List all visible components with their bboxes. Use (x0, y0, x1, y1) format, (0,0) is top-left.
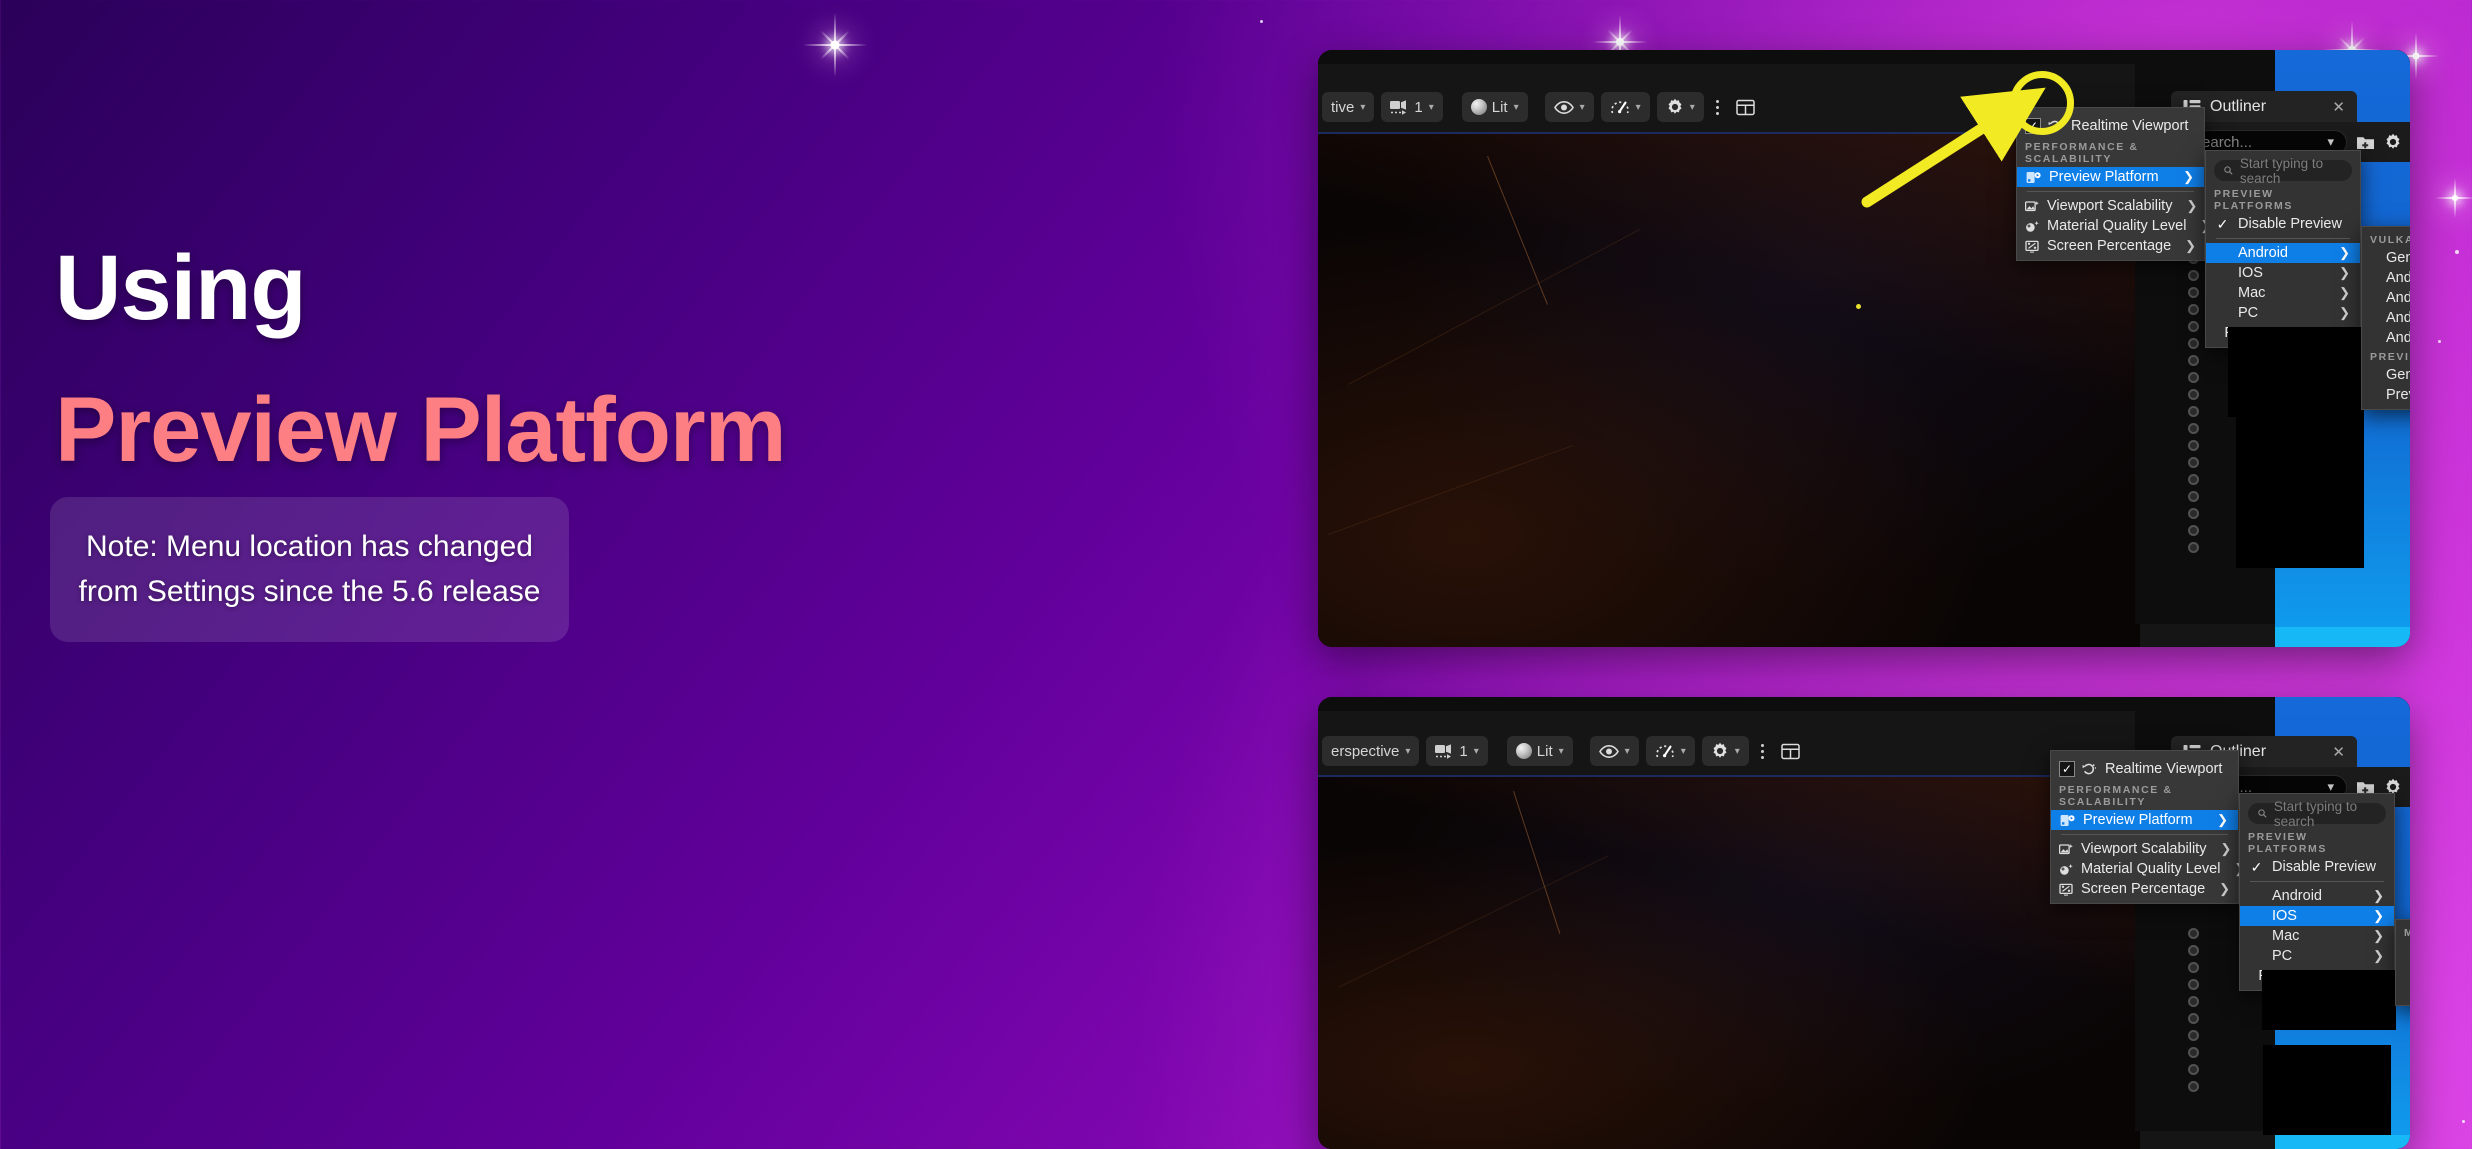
menu-item-iphone-6s[interactable]: iPhone 6S (2396, 961, 2410, 981)
menu-section-label: PREVIEW PLATFORMS (2214, 188, 2341, 212)
outliner-settings-gear-icon[interactable] (2384, 133, 2402, 151)
menu-item-pc[interactable]: PC ❯ (2240, 946, 2394, 966)
menu-item-label: Generate Platform Json... (2386, 367, 2410, 383)
list-item[interactable] (2184, 454, 2244, 471)
performance-context-menu: ✓ Realtime Viewport PERFORMANCE & SCALAB… (2016, 107, 2205, 261)
settings-dropdown[interactable]: ▾ (1702, 736, 1749, 766)
menu-section-vulkan: VULKAN (2362, 231, 2410, 248)
sparkle-star (2432, 175, 2472, 221)
menu-item-android-vulkan-mid[interactable]: Android Vulkan Mid (2362, 288, 2410, 308)
menu-item-generate-platform-json[interactable]: Generate Platform Json... (2362, 365, 2410, 385)
camera-count-label: 1 (1459, 743, 1467, 760)
menu-item-label: Screen Percentage (2081, 881, 2205, 897)
list-item[interactable] (2184, 488, 2244, 505)
list-item[interactable] (2184, 471, 2244, 488)
checkmark-icon: ✓ (2214, 216, 2231, 233)
layout-button[interactable] (1776, 736, 1805, 766)
menu-divider (2061, 834, 2228, 835)
list-item[interactable] (2184, 942, 2244, 959)
chevron-down-icon: ▾ (1514, 102, 1519, 113)
chevron-down-icon: ▾ (1429, 102, 1434, 113)
menu-item-android-vulkan-high[interactable]: Android Vulkan High (2362, 308, 2410, 328)
menu-item-ipad-pro-6[interactable]: iPad Pro 6 12.9in (2396, 981, 2410, 1001)
chevron-right-icon: ❯ (2219, 881, 2230, 897)
platform-search-input[interactable]: Start typing to search (2214, 160, 2352, 181)
menu-item-label: Material Quality Level (2047, 218, 2186, 234)
list-item[interactable] (2184, 976, 2244, 993)
menu-item-label: Realtime Viewport (2071, 118, 2194, 134)
grid-layout-icon (1736, 98, 1755, 117)
menu-item-label: Preview Platform (2083, 812, 2203, 828)
chevron-down-icon: ▾ (1474, 746, 1479, 757)
list-item[interactable] (2184, 522, 2244, 539)
headline-line-1: Using (55, 242, 786, 334)
menu-item-material-quality-level[interactable]: Material Quality Level ❯ (2017, 216, 2204, 236)
menu-divider (2027, 191, 2194, 192)
preview-platform-submenu: Start typing to search PREVIEW PLATFORMS… (2205, 150, 2361, 348)
screen-percentage-icon (2025, 240, 2040, 253)
outliner-empty-area (2263, 1045, 2391, 1135)
menu-item-label: Preview Platform (2049, 169, 2169, 185)
menu-item-label: IOS (2238, 265, 2325, 281)
menu-item-mac[interactable]: Mac ❯ (2206, 283, 2360, 303)
chevron-down-icon: ▾ (1681, 746, 1686, 757)
menu-item-realtime-viewport[interactable]: ✓ Realtime Viewport (2051, 757, 2238, 781)
gear-icon (1666, 98, 1684, 116)
scene-light-dot (1856, 304, 1861, 309)
scene-edge (1338, 855, 1608, 987)
menu-section-label: PREVIEW WITH JSON (2370, 351, 2410, 363)
eye-icon (1599, 745, 1619, 758)
more-options-button[interactable] (1711, 92, 1724, 122)
window-titlebar (1318, 50, 2410, 64)
menu-section-preview-platforms: PREVIEW PLATFORMS (2206, 185, 2360, 214)
scene-edge (1348, 229, 1640, 385)
outliner-tab-label: Outliner (2210, 98, 2266, 116)
menu-item-label: Mac (2272, 928, 2359, 944)
list-item[interactable] (2184, 959, 2244, 976)
checkmark-icon: ✓ (2248, 859, 2265, 876)
chevron-down-icon: ▾ (1690, 102, 1695, 113)
menu-item-label: Material Quality Level (2081, 861, 2220, 877)
menu-item-label: Android Vulkan Low (2386, 270, 2410, 286)
eye-icon (1554, 101, 1574, 114)
page-title: Using Preview Platform (55, 242, 786, 476)
chevron-down-icon: ▾ (1625, 746, 1630, 757)
menu-section-preview-with-json: PREVIEW WITH JSON (2362, 348, 2410, 365)
menu-item-preview-vulkan[interactable]: Preview Vulkan ❯ (2362, 385, 2410, 405)
chevron-down-icon[interactable]: ▾ (2327, 134, 2334, 150)
submenu-shadow-area (2228, 327, 2362, 417)
menu-item-screen-percentage[interactable]: Screen Percentage ❯ (2051, 879, 2238, 899)
menu-item-ios[interactable]: IOS ❯ (2240, 906, 2394, 926)
menu-item-label: Disable Preview (2272, 859, 2384, 875)
chevron-down-icon: ▾ (1580, 102, 1585, 113)
search-icon (2224, 165, 2233, 176)
chevron-down-icon: ▾ (1360, 102, 1365, 113)
menu-item-label: Android Vulkan High (2386, 310, 2410, 326)
close-icon[interactable]: ✕ (2298, 743, 2345, 761)
viewport-scalability-icon (2025, 200, 2040, 213)
chevron-right-icon: ❯ (2339, 265, 2350, 281)
menu-item-label: Android (2238, 245, 2325, 261)
list-item[interactable] (2184, 437, 2244, 454)
menu-item-android-vulkan-low[interactable]: Android Vulkan Low (2362, 268, 2410, 288)
menu-item-label: Generic Android Vulkan (2386, 250, 2410, 266)
menu-item-label: Viewport Scalability (2081, 841, 2206, 857)
list-item[interactable] (2184, 420, 2244, 437)
menu-item-disable-preview[interactable]: ✓ Disable Preview (2240, 857, 2394, 877)
list-item[interactable] (2184, 993, 2244, 1010)
sparkle-dot (2455, 250, 2459, 254)
view-mode-dropdown[interactable]: tive ▾ (1322, 92, 1374, 122)
lit-mode-dropdown[interactable]: Lit ▾ (1507, 736, 1573, 766)
lit-mode-dropdown[interactable]: Lit ▾ (1462, 92, 1528, 122)
chevron-right-icon: ❯ (2185, 238, 2196, 254)
material-quality-icon (2025, 220, 2040, 233)
grid-layout-icon (1781, 742, 1800, 761)
menu-section-label: PERFORMANCE & SCALABILITY (2025, 141, 2185, 165)
scene-edge (1513, 791, 1560, 934)
show-flags-dropdown[interactable]: ▾ (1545, 92, 1594, 122)
sphere-icon (1516, 743, 1532, 759)
menu-item-label: Android (2272, 888, 2359, 904)
performance-speedometer-icon (1655, 743, 1675, 760)
menu-item-mac[interactable]: Mac ❯ (2240, 926, 2394, 946)
menu-item-preview-platform[interactable]: Preview Platform ❯ (2051, 810, 2238, 830)
show-flags-dropdown[interactable]: ▾ (1590, 736, 1639, 766)
list-item[interactable] (2184, 925, 2244, 942)
menu-item-label: Android Vulkan Mid (2386, 290, 2410, 306)
more-options-icon (1716, 100, 1719, 115)
layout-button[interactable] (1731, 92, 1760, 122)
chevron-right-icon: ❯ (2339, 285, 2350, 301)
menu-item-label: Disable Preview (2238, 216, 2350, 232)
blue-bottom-strip (2275, 1135, 2410, 1149)
gear-icon (2384, 133, 2402, 151)
chevron-right-icon: ❯ (2186, 198, 2197, 214)
window-titlebar (1318, 697, 2410, 711)
list-item[interactable] (2184, 1027, 2244, 1044)
screenshot-card-bottom: erspective ▾ 1 ▾ Lit ▾ (1318, 697, 2410, 1149)
platform-search-placeholder: Start typing to search (2274, 799, 2376, 829)
android-vulkan-submenu: VULKAN Generic Android Vulkan Android Vu… (2361, 226, 2410, 410)
performance-context-menu: ✓ Realtime Viewport PERFORMANCE & SCALAB… (2050, 750, 2239, 904)
note-text: Note: Menu location has changed from Set… (76, 525, 543, 613)
menu-item-label: Mac (2238, 285, 2325, 301)
menu-item-label: Android Generic XR (2386, 330, 2410, 346)
chevron-down-icon: ▾ (1405, 746, 1410, 757)
chevron-down-icon: ▾ (1636, 102, 1641, 113)
menu-item-generic-android-vulkan[interactable]: Generic Android Vulkan (2362, 248, 2410, 268)
menu-item-android[interactable]: Android ❯ (2240, 886, 2394, 906)
submenu-shadow-area (2262, 970, 2396, 1030)
gear-icon (1711, 742, 1729, 760)
view-mode-label: erspective (1331, 743, 1399, 760)
menu-section-preview-platforms: PREVIEW PLATFORMS (2240, 828, 2394, 857)
camera-speed-dropdown[interactable]: 1 ▾ (1381, 92, 1442, 122)
menu-item-viewport-scalability[interactable]: Viewport Scalability ❯ (2051, 839, 2238, 859)
menu-item-label: IOS (2272, 908, 2359, 924)
viewport-toolbar: tive ▾ 1 ▾ Lit ▾ (1318, 90, 1760, 124)
list-item[interactable] (2184, 1061, 2244, 1078)
realtime-viewport-icon (2081, 763, 2098, 776)
chevron-right-icon: ❯ (2217, 812, 2228, 828)
more-options-button[interactable] (1756, 736, 1769, 766)
menu-item-label: PC (2238, 305, 2325, 321)
unreal-editor-window: erspective ▾ 1 ▾ Lit ▾ (1318, 697, 2410, 1149)
menu-item-material-quality-level[interactable]: Material Quality Level ❯ (2051, 859, 2238, 879)
new-folder-icon (2356, 134, 2375, 151)
menu-item-android-generic-xr[interactable]: Android Generic XR (2362, 328, 2410, 348)
viewport-3d[interactable] (1318, 775, 2140, 1149)
camera-speed-dropdown[interactable]: 1 ▾ (1426, 736, 1487, 766)
sparkle-dot (2462, 1120, 2465, 1123)
menu-section-performance: PERFORMANCE & SCALABILITY (2051, 781, 2238, 810)
list-item[interactable] (2184, 1078, 2244, 1095)
checkbox-checked[interactable]: ✓ (2059, 761, 2075, 777)
blue-bottom-strip (2275, 627, 2410, 647)
list-item[interactable] (2184, 1044, 2244, 1061)
new-folder-icon[interactable] (2356, 134, 2375, 151)
menu-item-preview-platform[interactable]: Preview Platform ❯ (2017, 167, 2204, 187)
text-column: Using Preview Platform Note: Menu locati… (0, 0, 1290, 1149)
ios-metal-submenu: METAL Generic IOS iPhone 6S iPad Pro 6 1… (2395, 919, 2410, 1006)
menu-item-label: Screen Percentage (2047, 238, 2171, 254)
menu-section-metal: METAL (2396, 924, 2410, 941)
performance-dropdown[interactable]: ▾ (1646, 736, 1695, 766)
lit-label: Lit (1492, 99, 1508, 116)
chevron-down-icon: ▾ (1559, 746, 1564, 757)
menu-section-performance: PERFORMANCE & SCALABILITY (2017, 138, 2204, 167)
menu-divider (2250, 881, 2384, 882)
realtime-viewport-icon (2047, 120, 2064, 133)
list-item[interactable] (2184, 1010, 2244, 1027)
menu-divider (2216, 238, 2350, 239)
menu-item-pc[interactable]: PC ❯ (2206, 303, 2360, 323)
preview-platform-icon (2059, 814, 2076, 827)
menu-item-label: Viewport Scalability (2047, 198, 2172, 214)
menu-item-label: Preview Vulkan (2386, 387, 2410, 403)
search-icon (2258, 808, 2267, 819)
viewport-scalability-icon (2059, 843, 2074, 856)
more-options-icon (1761, 744, 1764, 759)
menu-item-ios[interactable]: IOS ❯ (2206, 263, 2360, 283)
chevron-down-icon: ▾ (1735, 746, 1740, 757)
view-mode-label: tive (1331, 99, 1354, 116)
screen-percentage-icon (2059, 883, 2074, 896)
unreal-editor-window: tive ▾ 1 ▾ Lit ▾ (1318, 50, 2410, 647)
note-callout: Note: Menu location has changed from Set… (50, 497, 569, 642)
lit-label: Lit (1537, 743, 1553, 760)
menu-item-android[interactable]: Android ❯ (2206, 243, 2360, 263)
scene-edge (1328, 445, 1573, 535)
menu-item-disable-preview[interactable]: ✓ Disable Preview (2206, 214, 2360, 234)
menu-item-label: PC (2272, 948, 2359, 964)
sphere-icon (1471, 99, 1487, 115)
camera-count-label: 1 (1414, 99, 1422, 116)
list-item[interactable] (2184, 505, 2244, 522)
menu-section-label: PREVIEW PLATFORMS (2248, 831, 2375, 855)
chevron-right-icon: ❯ (2220, 841, 2231, 857)
chevron-right-icon: ❯ (2183, 169, 2194, 185)
menu-item-generic-ios[interactable]: Generic IOS (2396, 941, 2410, 961)
outliner-rows (2184, 925, 2244, 1095)
settings-dropdown[interactable]: ▾ (1657, 92, 1704, 122)
chevron-right-icon: ❯ (2373, 908, 2384, 924)
material-quality-icon (2059, 863, 2074, 876)
menu-section-label: METAL (2404, 927, 2410, 939)
menu-item-screen-percentage[interactable]: Screen Percentage ❯ (2017, 236, 2204, 256)
viewport-toolbar: erspective ▾ 1 ▾ Lit ▾ (1318, 735, 1805, 767)
chevron-right-icon: ❯ (2373, 948, 2384, 964)
performance-dropdown[interactable]: ▾ (1601, 92, 1650, 122)
list-item[interactable] (2184, 539, 2244, 556)
preview-platform-submenu: Start typing to search PREVIEW PLATFORMS… (2239, 793, 2395, 991)
close-icon[interactable]: ✕ (2298, 98, 2345, 116)
chevron-right-icon: ❯ (2373, 928, 2384, 944)
camera-icon (1435, 744, 1454, 759)
menu-item-viewport-scalability[interactable]: Viewport Scalability ❯ (2017, 196, 2204, 216)
menu-item-realtime-viewport[interactable]: ✓ Realtime Viewport (2017, 114, 2204, 138)
menu-item-label: Realtime Viewport (2105, 761, 2228, 777)
camera-icon (1390, 100, 1409, 115)
menu-section-label: PERFORMANCE & SCALABILITY (2059, 784, 2219, 808)
performance-speedometer-icon (1610, 99, 1630, 116)
headline-line-2: Preview Platform (55, 384, 786, 476)
sparkle-dot (2438, 340, 2441, 343)
chevron-right-icon: ❯ (2339, 245, 2350, 261)
chevron-right-icon: ❯ (2339, 305, 2350, 321)
chevron-right-icon: ❯ (2373, 888, 2384, 904)
view-mode-dropdown[interactable]: erspective ▾ (1322, 736, 1419, 766)
platform-search-placeholder: Start typing to search (2240, 156, 2342, 186)
menu-section-label: VULKAN (2370, 234, 2410, 246)
preview-platform-icon (2025, 171, 2042, 184)
checkbox-checked[interactable]: ✓ (2025, 118, 2041, 134)
screenshot-card-top: tive ▾ 1 ▾ Lit ▾ (1318, 50, 2410, 647)
platform-search-input[interactable]: Start typing to search (2248, 803, 2386, 824)
